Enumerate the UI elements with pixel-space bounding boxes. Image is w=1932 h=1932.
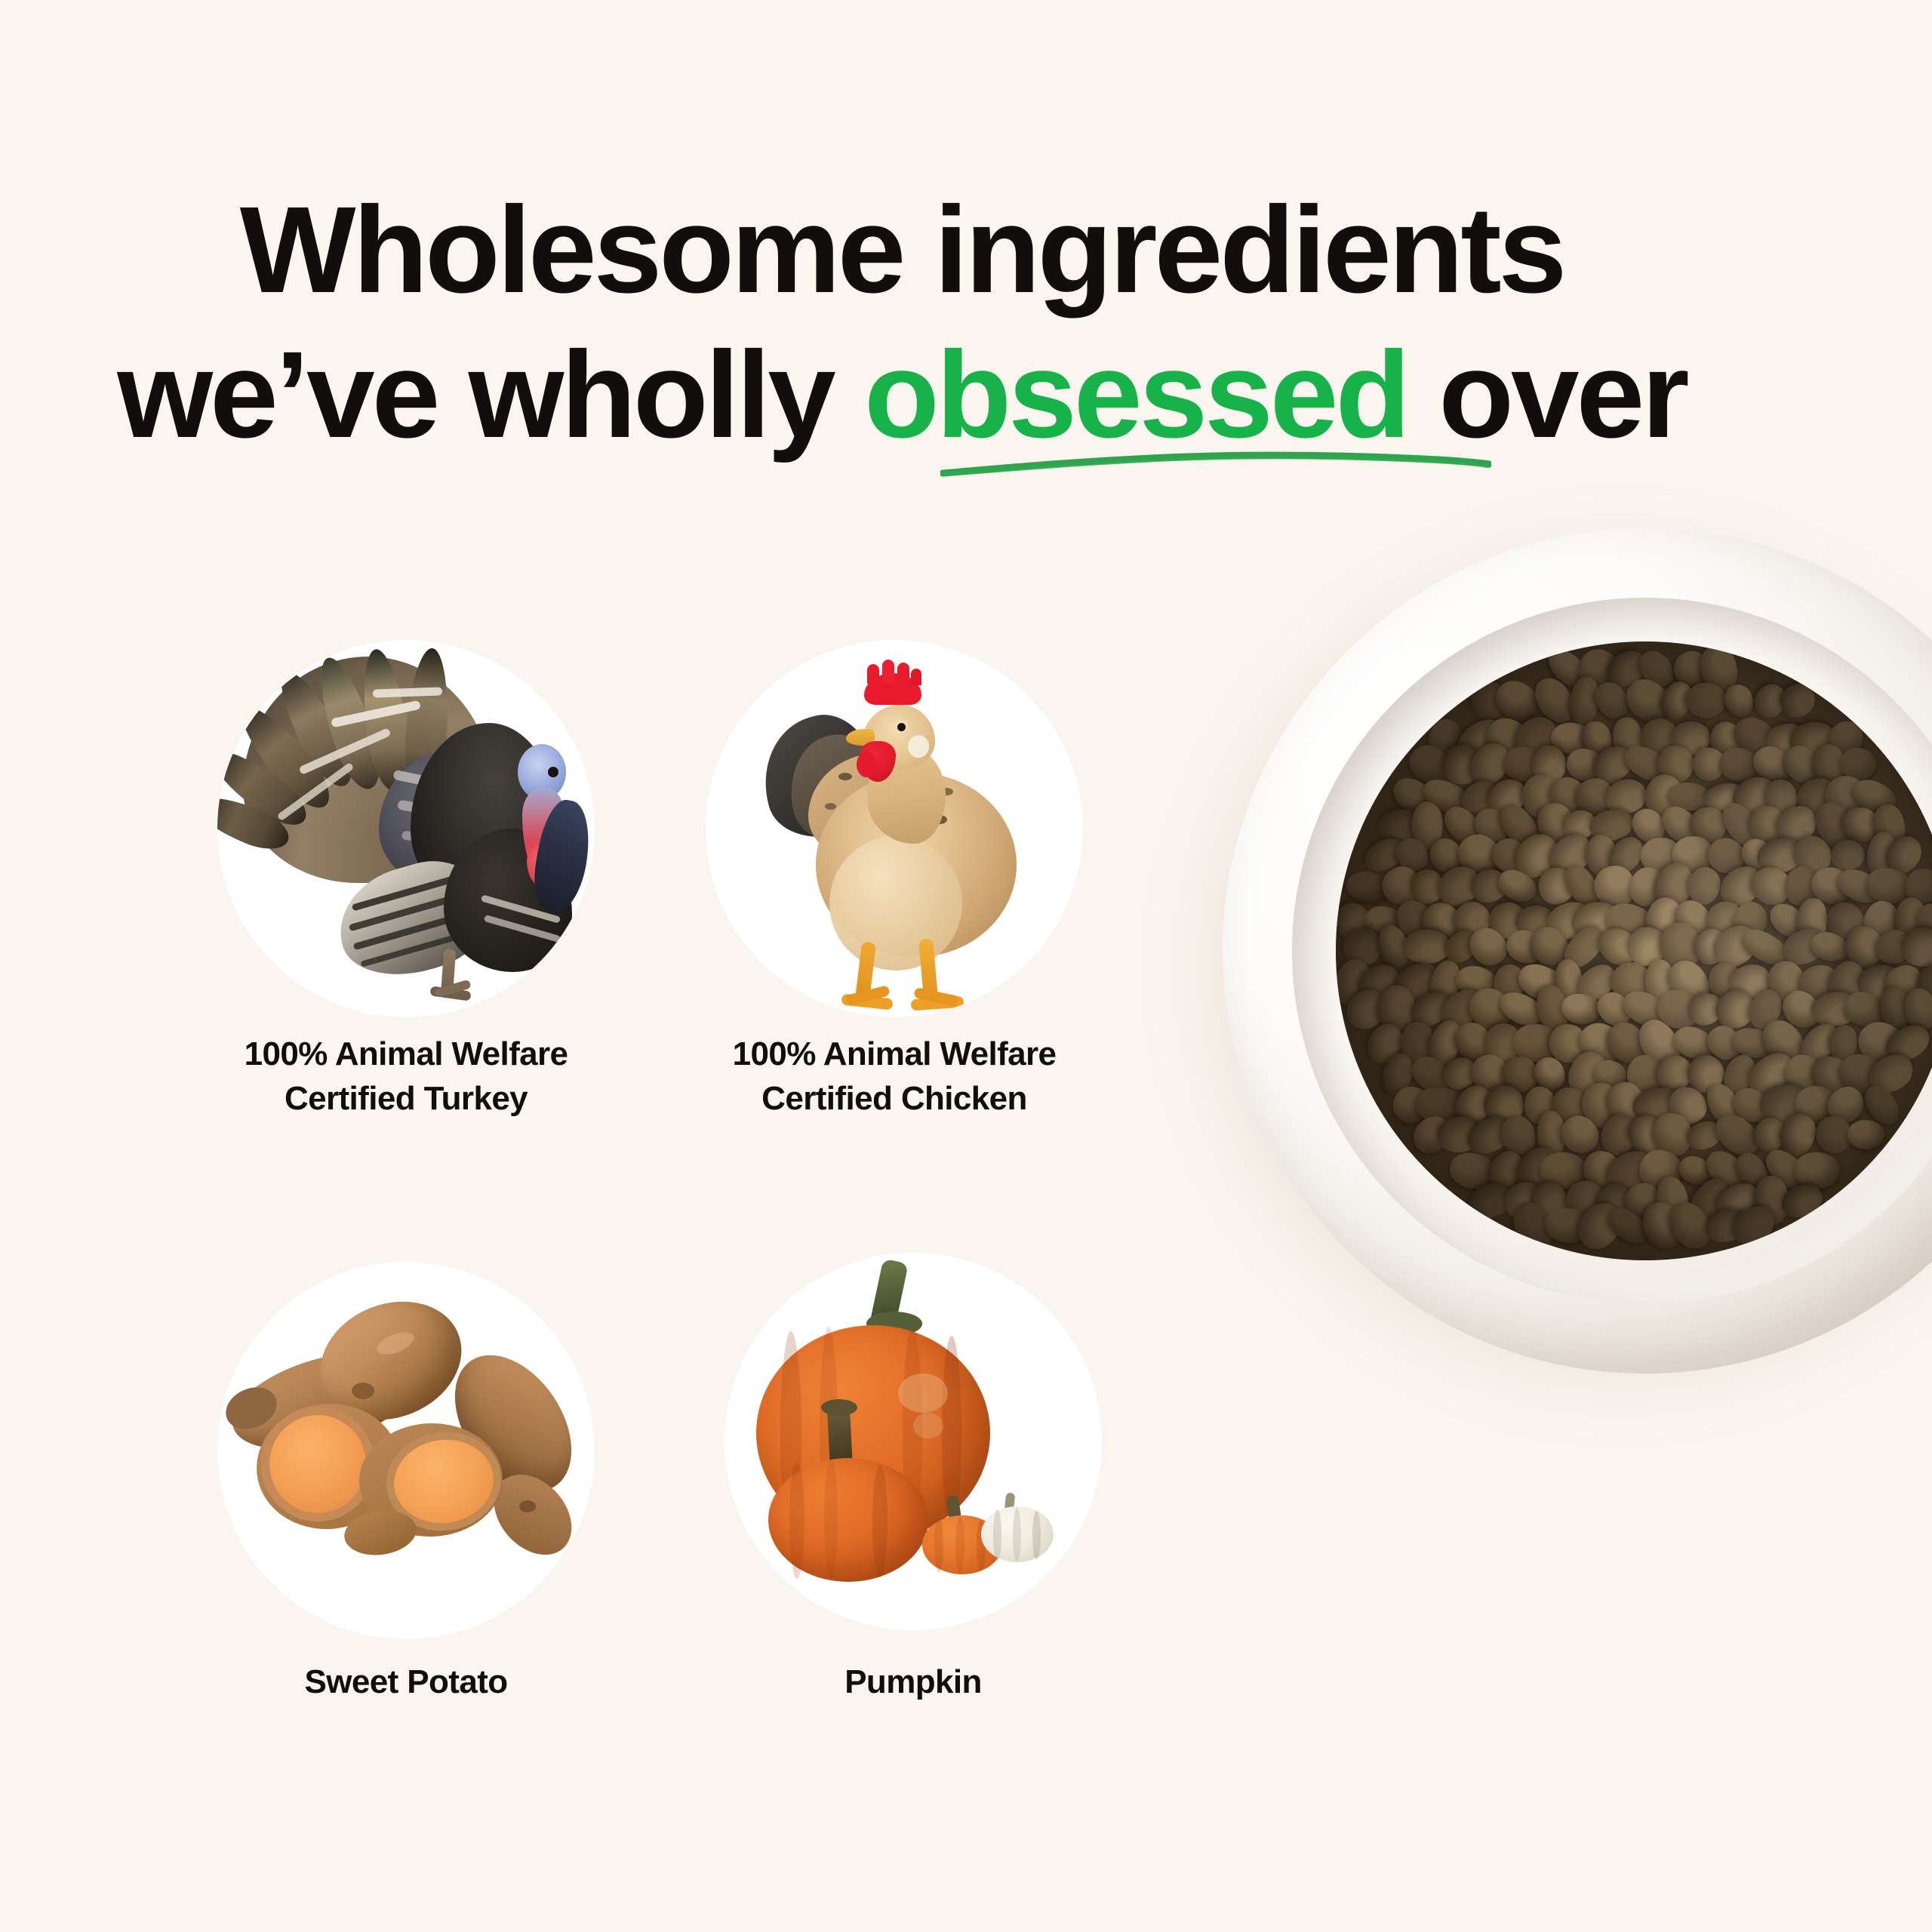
headline-line-2: we’ve wholly obsessed over — [0, 322, 1804, 467]
turkey-photo — [217, 640, 595, 1017]
ingredient-turkey: 100% Animal Welfare Certified Turkey — [217, 640, 595, 1017]
chicken-photo — [706, 640, 1083, 1017]
sweet-potato-photo — [217, 1262, 595, 1639]
chicken-image-disc — [706, 640, 1083, 1017]
sweet-potato-image-disc — [217, 1262, 595, 1639]
chicken-caption: 100% Animal Welfare Certified Chicken — [675, 1032, 1113, 1121]
kibble-piece — [1830, 839, 1865, 871]
headline-text-post: over — [1407, 325, 1687, 463]
chicken-caption-line-1: 100% Animal Welfare — [733, 1035, 1057, 1072]
pumpkin-photo — [724, 1253, 1102, 1630]
ingredient-pumpkin: Pumpkin — [724, 1253, 1102, 1630]
kibble-pile — [1336, 641, 1932, 1260]
headline-highlight-obsessed: obsessed — [864, 322, 1407, 467]
page-title: Wholesome ingredients we’ve wholly obses… — [0, 177, 1804, 468]
headline-text-pre: we’ve wholly — [117, 325, 864, 463]
kibble-piece — [1847, 1120, 1885, 1150]
headline-line-1: Wholesome ingredients — [0, 177, 1804, 322]
sweet-potato-caption-line-1: Sweet Potato — [304, 1663, 507, 1700]
turkey-caption: 100% Animal Welfare Certified Turkey — [187, 1032, 625, 1121]
sweet-potato-caption: Sweet Potato — [187, 1660, 625, 1705]
pumpkin-image-disc — [724, 1253, 1102, 1630]
pumpkin-caption: Pumpkin — [694, 1660, 1132, 1705]
ingredient-chicken: 100% Animal Welfare Certified Chicken — [706, 640, 1083, 1017]
turkey-image-disc — [217, 640, 595, 1017]
kibble-piece — [1686, 682, 1727, 719]
pumpkin-caption-line-1: Pumpkin — [844, 1663, 982, 1700]
turkey-caption-line-2: Certified Turkey — [285, 1080, 528, 1117]
ingredient-sweet-potato: Sweet Potato — [217, 1262, 595, 1639]
chicken-caption-line-2: Certified Chicken — [761, 1080, 1027, 1117]
kibble-piece — [1402, 930, 1451, 964]
kibble-piece — [1816, 1116, 1852, 1154]
turkey-caption-line-1: 100% Animal Welfare — [245, 1035, 568, 1072]
ingredients-marketing-graphic: Wholesome ingredients we’ve wholly obses… — [0, 0, 1932, 1932]
